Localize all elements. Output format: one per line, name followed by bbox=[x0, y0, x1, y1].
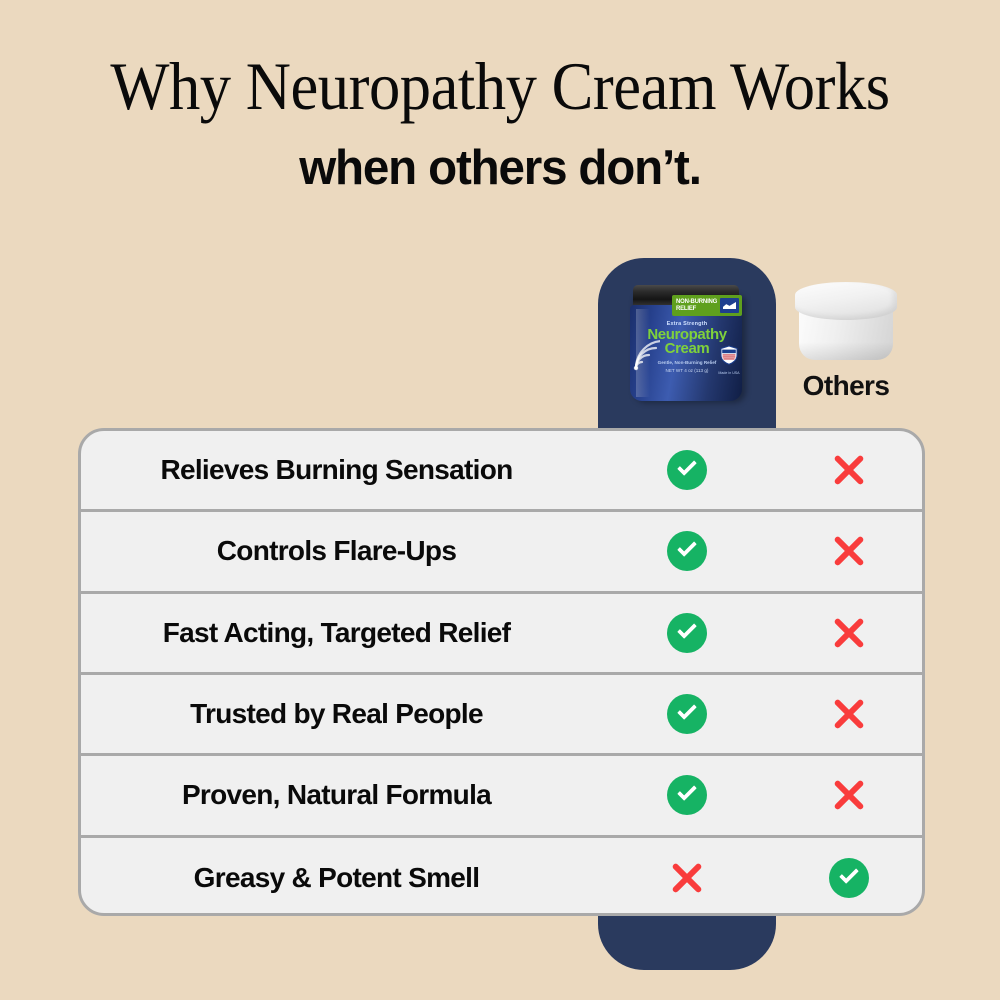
others-cell bbox=[776, 756, 922, 834]
check-icon bbox=[667, 694, 707, 734]
neuropathy-cream-jar: NON-BURNING RELIEF Extra Strength Neurop… bbox=[630, 285, 745, 403]
table-row: Proven, Natural Formula bbox=[81, 756, 922, 837]
feature-label: Controls Flare-Ups bbox=[81, 535, 598, 567]
ours-cell bbox=[598, 756, 776, 834]
non-burning-relief-badge: NON-BURNING RELIEF bbox=[672, 295, 742, 316]
feature-label: Relieves Burning Sensation bbox=[81, 454, 598, 486]
check-icon bbox=[829, 858, 869, 898]
feature-label: Trusted by Real People bbox=[81, 698, 598, 730]
cross-icon bbox=[828, 449, 870, 491]
check-icon bbox=[667, 775, 707, 815]
feature-label: Proven, Natural Formula bbox=[81, 779, 598, 811]
others-cell bbox=[776, 594, 922, 672]
check-icon bbox=[667, 613, 707, 653]
cross-icon bbox=[828, 693, 870, 735]
check-icon bbox=[667, 531, 707, 571]
others-cell bbox=[776, 838, 922, 916]
feature-label: Greasy & Potent Smell bbox=[81, 862, 598, 894]
others-jar-lid bbox=[795, 282, 897, 320]
page-title: Why Neuropathy Cream Works when others d… bbox=[0, 52, 1000, 193]
others-cell bbox=[776, 675, 922, 753]
ours-cell bbox=[598, 512, 776, 590]
headline-line-2: when others don’t. bbox=[15, 144, 985, 193]
ours-cell bbox=[598, 675, 776, 753]
check-icon bbox=[667, 450, 707, 490]
ours-cell bbox=[598, 838, 776, 916]
comparison-table: Relieves Burning Sensation Controls Flar… bbox=[78, 428, 925, 916]
feature-label: Fast Acting, Targeted Relief bbox=[81, 617, 598, 649]
table-row: Greasy & Potent Smell bbox=[81, 838, 922, 916]
others-label: Others bbox=[780, 370, 912, 402]
ours-cell bbox=[598, 431, 776, 509]
headline-line-1: Why Neuropathy Cream Works bbox=[40, 52, 960, 120]
plain-white-jar-icon bbox=[793, 282, 899, 362]
cross-icon bbox=[828, 774, 870, 816]
cross-icon bbox=[666, 857, 708, 899]
table-row: Relieves Burning Sensation bbox=[81, 431, 922, 512]
usa-shield-icon bbox=[720, 345, 738, 365]
non-burning-relief-badge-text: NON-BURNING RELIEF bbox=[672, 299, 720, 313]
jar-made-in-usa: Made in USA bbox=[717, 371, 741, 375]
table-row: Controls Flare-Ups bbox=[81, 512, 922, 593]
table-row: Trusted by Real People bbox=[81, 675, 922, 756]
cross-icon bbox=[828, 612, 870, 654]
cross-icon bbox=[828, 530, 870, 572]
non-burning-shield-icon bbox=[720, 298, 739, 313]
usa-shield-badge: Made in USA bbox=[717, 345, 741, 375]
ours-cell bbox=[598, 594, 776, 672]
others-cell bbox=[776, 512, 922, 590]
others-product: Others bbox=[780, 282, 912, 402]
others-cell bbox=[776, 431, 922, 509]
table-row: Fast Acting, Targeted Relief bbox=[81, 594, 922, 675]
